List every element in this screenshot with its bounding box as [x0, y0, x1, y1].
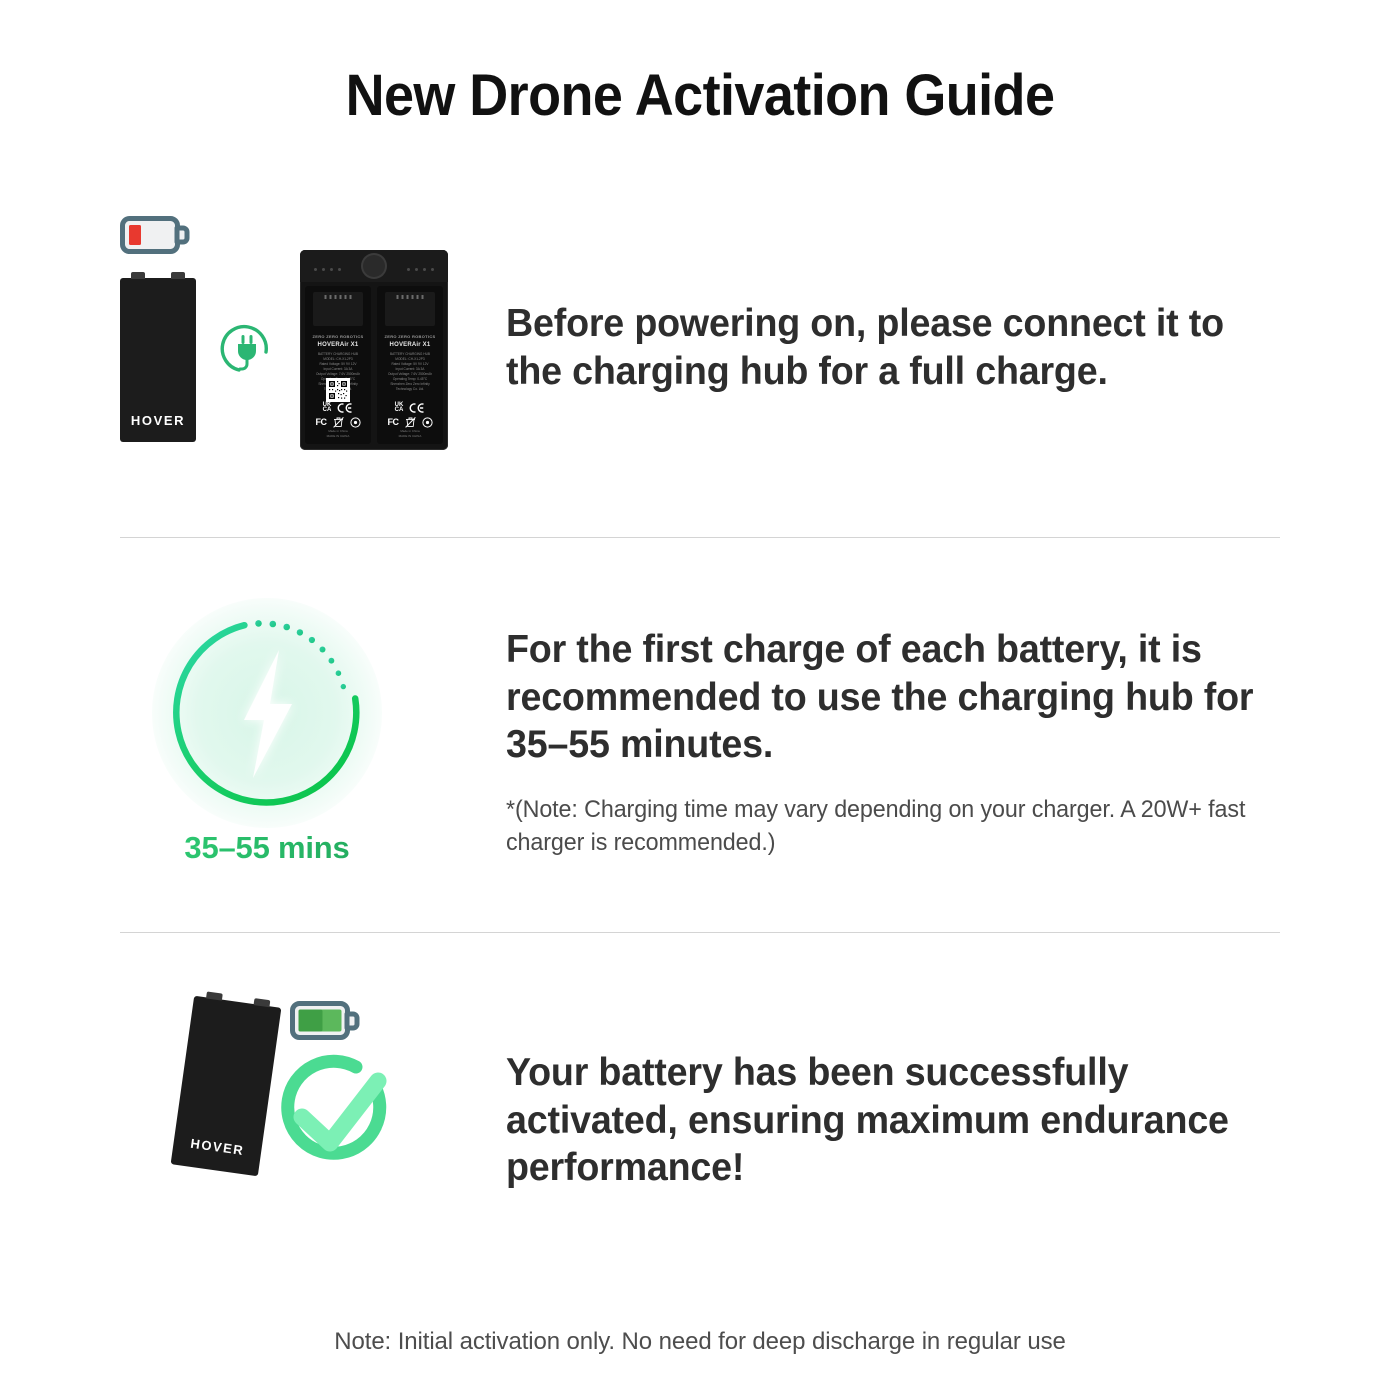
low-battery-icon	[120, 214, 192, 256]
bay-slot	[385, 292, 435, 326]
ce-mark	[337, 403, 353, 413]
battery-terminal-left	[206, 991, 223, 1000]
hub-bay-left: ZERO ZERO ROBOTICS HOVERAir X1 BATTERY C…	[305, 286, 371, 444]
recycle-mark	[422, 417, 433, 428]
footer-note: Note: Initial activation only. No need f…	[0, 1328, 1400, 1356]
step-1-headline: Before powering on, please connect it to…	[506, 300, 1263, 395]
battery-brand-label: HOVER	[120, 413, 196, 428]
hub-certification-marks: UKCA FC	[377, 403, 443, 428]
step-3-headline: Your battery has been successfully activ…	[506, 1049, 1263, 1192]
hub-origin-text: Made in ChinaMADE IN CHINA	[309, 429, 367, 438]
step-3-illustration: HOVER	[110, 985, 500, 1275]
hub-power-button[interactable]	[363, 255, 385, 277]
section-divider-2	[120, 932, 1280, 933]
weee-bin-icon	[405, 416, 416, 428]
charge-duration-label: 35–55 mins	[152, 830, 382, 866]
hub-led-indicators-right	[407, 268, 434, 271]
bay-contact-pins	[325, 295, 352, 299]
page-title: New Drone Activation Guide	[49, 62, 1351, 129]
hub-model-label: HOVERAir X1	[305, 342, 371, 348]
fcc-mark: FC	[388, 417, 399, 427]
step-2-copy: For the first charge of each battery, it…	[500, 590, 1290, 859]
step-2-subnote: *(Note: Charging time may vary depending…	[506, 793, 1266, 859]
battery-hover-tilted: HOVER	[171, 996, 282, 1177]
battery-terminal-right	[171, 272, 185, 279]
hub-led-indicators-left	[314, 268, 341, 271]
step-first-charge-section: 35–55 mins For the first charge of each …	[110, 590, 1290, 890]
step-1-copy: Before powering on, please connect it to…	[500, 196, 1290, 395]
hub-top-panel	[300, 250, 448, 282]
hub-certification-marks: UKCA FC	[305, 403, 371, 428]
battery-hover-upright: HOVER	[120, 278, 196, 442]
fcc-mark: FC	[316, 417, 327, 427]
step-activated-section: HOVER Your battery has been successfully…	[110, 985, 1290, 1285]
step-1-illustration: HOVER	[110, 196, 500, 486]
battery-terminal-left	[131, 272, 145, 279]
step-3-copy: Your battery has been successfully activ…	[500, 985, 1290, 1192]
hub-bay-right: ZERO ZERO ROBOTICS HOVERAir X1 BATTERY C…	[377, 286, 443, 444]
hub-qr-code	[326, 378, 350, 402]
ukca-mark: UKCA	[323, 403, 332, 414]
hub-brand-label: ZERO ZERO ROBOTICS	[305, 334, 371, 339]
charging-progress-ring	[152, 598, 382, 828]
battery-terminal-right	[254, 998, 271, 1007]
hub-origin-text: Made in ChinaMADE IN CHINA	[381, 429, 439, 438]
weee-bin-icon	[333, 416, 344, 428]
charging-timer-graphic: 35–55 mins	[152, 598, 382, 866]
battery-brand-label: HOVER	[173, 1133, 262, 1160]
step-2-illustration: 35–55 mins	[110, 590, 500, 880]
hub-brand-label: ZERO ZERO ROBOTICS	[377, 334, 443, 339]
step-connect-hub-section: HOVER	[110, 196, 1290, 496]
recycle-mark	[350, 417, 361, 428]
activation-guide-page: New Drone Activation Guide HOVER	[0, 0, 1400, 1400]
success-check-icon	[278, 1051, 398, 1169]
power-plug-icon	[220, 322, 274, 376]
full-battery-icon	[290, 999, 362, 1043]
lightning-bolt-icon	[244, 650, 292, 778]
hub-fine-print: BATTERY CHARGING HUBMODEL: CH-X1-2P3Rate…	[383, 352, 437, 392]
hub-model-label: HOVERAir X1	[377, 342, 443, 348]
ce-mark	[409, 403, 425, 413]
section-divider-1	[120, 537, 1280, 538]
ukca-mark: UKCA	[395, 403, 404, 414]
charging-hub: ZERO ZERO ROBOTICS HOVERAir X1 BATTERY C…	[300, 250, 448, 450]
bay-contact-pins	[397, 295, 424, 299]
step-2-headline: For the first charge of each battery, it…	[506, 626, 1263, 769]
bay-slot	[313, 292, 363, 326]
